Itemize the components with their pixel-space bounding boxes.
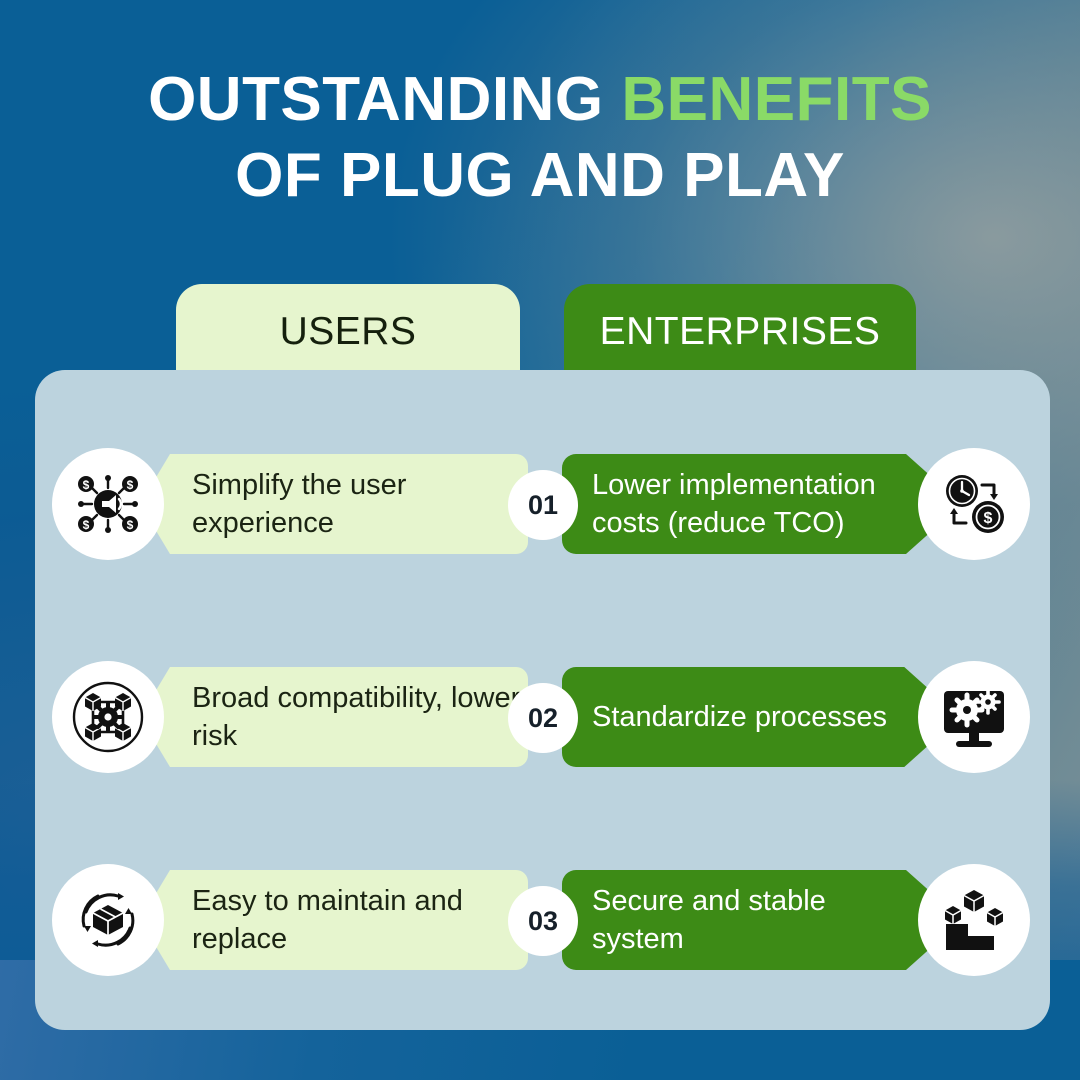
svg-text:$: $ xyxy=(83,518,90,532)
benefit-label-user-text: Simplify the user experience xyxy=(192,466,528,543)
svg-text:$: $ xyxy=(984,510,993,527)
benefit-label-enterprise[interactable]: Lower implementation costs (reduce TCO) xyxy=(562,454,962,554)
benefit-row: Easy to maintain and replace 03 Secure a… xyxy=(0,858,1080,982)
tab-users[interactable]: USERS xyxy=(176,284,520,380)
row-number-badge: 03 xyxy=(508,886,578,956)
svg-text:$: $ xyxy=(127,518,134,532)
benefit-label-user-text: Easy to maintain and replace xyxy=(192,882,528,959)
monitor-gears-icon xyxy=(918,661,1030,773)
benefit-label-user[interactable]: Easy to maintain and replace xyxy=(140,870,528,970)
clock-coin-exchange-icon: $ xyxy=(918,448,1030,560)
benefit-label-enterprise-text: Lower implementation costs (reduce TCO) xyxy=(592,466,902,543)
megaphone-dollar-broadcast-icon: $ $ $ $ xyxy=(52,448,164,560)
tab-enterprises-label: ENTERPRISES xyxy=(600,310,881,354)
title-line-1: OUTSTANDING BENEFITS xyxy=(0,62,1080,138)
row-number-badge: 02 xyxy=(508,683,578,753)
tab-enterprises[interactable]: ENTERPRISES xyxy=(564,284,916,380)
row-number-text: 03 xyxy=(528,906,558,937)
svg-text:$: $ xyxy=(83,478,90,492)
modules-network-gear-icon xyxy=(52,661,164,773)
benefit-row: Broad compatibility, lower risk 02 Stand… xyxy=(0,655,1080,779)
row-number-badge: 01 xyxy=(508,470,578,540)
stacked-cubes-podium-icon xyxy=(918,864,1030,976)
column-header-tabs: USERS ENTERPRISES xyxy=(176,284,916,380)
title-accent-text: BENEFITS xyxy=(621,65,932,134)
benefit-row: $ $ $ $ Simplify the user experience 01 … xyxy=(0,442,1080,566)
benefit-label-user[interactable]: Simplify the user experience xyxy=(140,454,528,554)
benefit-label-user[interactable]: Broad compatibility, lower risk xyxy=(140,667,528,767)
row-number-text: 01 xyxy=(528,490,558,521)
benefit-label-enterprise-text: Standardize processes xyxy=(592,698,887,736)
row-number-text: 02 xyxy=(528,703,558,734)
benefit-label-user-text: Broad compatibility, lower risk xyxy=(192,679,528,756)
title-line-2: OF PLUG AND PLAY xyxy=(0,138,1080,214)
benefit-label-enterprise-text: Secure and stable system xyxy=(592,882,902,959)
svg-text:$: $ xyxy=(127,478,134,492)
page-title: OUTSTANDING BENEFITS OF PLUG AND PLAY xyxy=(0,62,1080,213)
benefit-label-enterprise[interactable]: Standardize processes xyxy=(562,667,960,767)
title-plain-text: OUTSTANDING xyxy=(148,65,621,134)
box-refresh-cycle-icon xyxy=(52,864,164,976)
tab-users-label: USERS xyxy=(280,310,417,354)
benefit-label-enterprise[interactable]: Secure and stable system xyxy=(562,870,962,970)
